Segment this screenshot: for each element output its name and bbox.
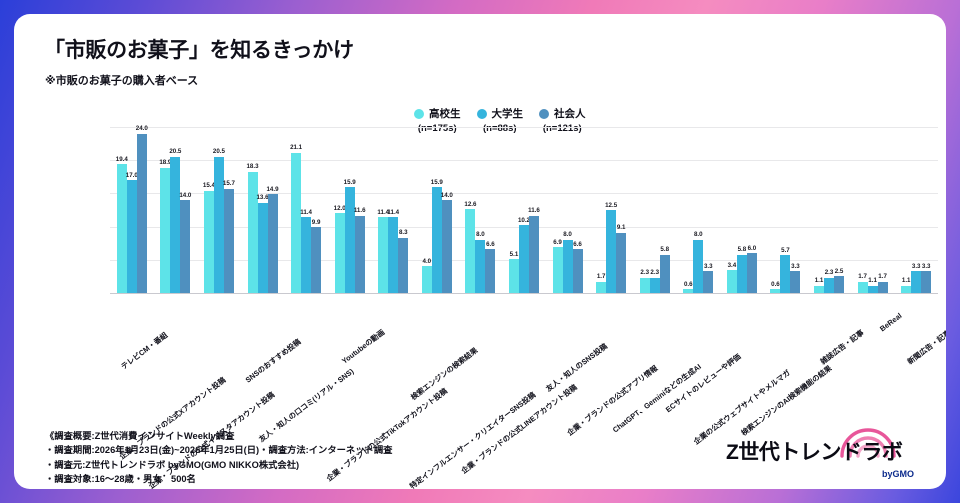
bar[interactable]: [355, 216, 365, 293]
bar-value-label: 6.6: [573, 241, 582, 248]
bar-value-label: 6.9: [553, 239, 562, 246]
bar-group: 1.13.33.3: [894, 127, 938, 293]
bar-value-label: 1.7: [878, 273, 887, 280]
bar-column: 3.3: [790, 127, 800, 293]
bar-value-label: 1.1: [815, 277, 824, 284]
bar-column: 9.9: [311, 127, 321, 293]
bar[interactable]: [878, 282, 888, 293]
bar-group: 1.712.59.1: [589, 127, 633, 293]
bar-column: 5.1: [509, 127, 519, 293]
bar-column: 1.7: [596, 127, 606, 293]
bar-group: 3.45.86.0: [720, 127, 764, 293]
bar-value-label: 3.3: [912, 263, 921, 270]
brand-logo: Z世代トレンドラボ byGMO: [726, 426, 916, 478]
bar-value-label: 14.0: [441, 192, 453, 199]
bar[interactable]: [834, 276, 844, 293]
bar-group: 1.12.32.5: [807, 127, 851, 293]
bar-column: 6.6: [485, 127, 495, 293]
bar-column: 24.0: [137, 127, 147, 293]
bar[interactable]: [345, 187, 355, 293]
bar-value-label: 9.9: [312, 219, 321, 226]
bar-group: 5.110.211.6: [502, 127, 546, 293]
bar-column: 9.1: [616, 127, 626, 293]
bar-column: 8.0: [475, 127, 485, 293]
bar-group: 11.411.48.3: [371, 127, 415, 293]
bar[interactable]: [858, 282, 868, 293]
bar-column: 1.7: [878, 127, 888, 293]
bar-value-label: 6.0: [748, 245, 757, 252]
bar[interactable]: [127, 180, 137, 293]
bar-group: 18.920.514.0: [154, 127, 198, 293]
bar[interactable]: [137, 134, 147, 293]
bar-group: 18.313.614.9: [241, 127, 285, 293]
survey-note-line: ・調査元:Z世代トレンドラボ byGMO(GMO NIKKO株式会社): [45, 458, 392, 472]
bar-value-label: 5.8: [660, 246, 669, 253]
bar-column: 15.9: [432, 127, 442, 293]
bar[interactable]: [703, 271, 713, 293]
bar-value-label: 1.7: [858, 273, 867, 280]
bar[interactable]: [529, 216, 539, 293]
bar[interactable]: [596, 282, 606, 293]
logo-text: Z世代トレンドラボ: [726, 436, 902, 466]
bar[interactable]: [737, 255, 747, 294]
bar-column: 14.0: [442, 127, 452, 293]
legend-label: 社会人: [554, 106, 586, 121]
bar-groups: 19.417.024.018.920.514.015.420.515.718.3…: [110, 127, 938, 293]
bar[interactable]: [519, 225, 529, 293]
bar-column: 17.0: [127, 127, 137, 293]
bar[interactable]: [553, 247, 563, 293]
x-axis-label: 新聞広告・記事: [905, 327, 946, 367]
bar-column: 1.7: [858, 127, 868, 293]
bar-group: 12.68.06.6: [459, 127, 503, 293]
survey-note-line: ・調査期間:2026年1月23日(金)~2026年1月25日(日)・調査方法:イ…: [45, 443, 392, 457]
legend-label: 高校生: [429, 106, 461, 121]
bar[interactable]: [616, 233, 626, 293]
bar[interactable]: [640, 278, 650, 293]
bar-column: 4.0: [422, 127, 432, 293]
bar-column: 8.3: [398, 127, 408, 293]
bar-column: 3.3: [703, 127, 713, 293]
bar-column: 11.4: [301, 127, 311, 293]
bar[interactable]: [248, 172, 258, 294]
bar[interactable]: [311, 227, 321, 293]
bar-value-label: 5.1: [510, 251, 519, 258]
slide-background: 「市販のお菓子」を知るきっかけ ※市販のお菓子の購入者ベース 高校生(n=175…: [0, 0, 960, 503]
bar-column: 0.6: [770, 127, 780, 293]
bar-value-label: 14.0: [179, 192, 191, 199]
bar-column: 5.8: [660, 127, 670, 293]
bar-value-label: 0.6: [771, 281, 780, 288]
bar-column: 8.0: [563, 127, 573, 293]
bar[interactable]: [747, 253, 757, 293]
x-axis-label: BeReal: [878, 311, 903, 333]
x-axis-label: Youtubeの動画: [339, 327, 387, 367]
bar-column: 3.4: [727, 127, 737, 293]
bar-group: 19.417.024.0: [110, 127, 154, 293]
bar-column: 6.6: [573, 127, 583, 293]
bar[interactable]: [780, 255, 790, 293]
bar-column: 5.7: [780, 127, 790, 293]
bar-group: 1.71.11.7: [851, 127, 895, 293]
x-axis-label: SNSのおすすめ投稿: [243, 336, 303, 385]
legend-dot-icon: [477, 109, 487, 119]
bar[interactable]: [727, 270, 737, 293]
survey-note-line: ・調査対象:16〜28歳・男女 500名: [45, 472, 392, 486]
bar[interactable]: [291, 153, 301, 293]
bar-column: 13.6: [258, 127, 268, 293]
bar[interactable]: [160, 168, 170, 293]
bar[interactable]: [485, 249, 495, 293]
bar-column: 2.3: [650, 127, 660, 293]
bar-column: 0.6: [683, 127, 693, 293]
bar-value-label: 14.9: [266, 186, 278, 193]
bar[interactable]: [911, 271, 921, 293]
page-title: 「市販のお菓子」を知るきっかけ: [44, 34, 354, 64]
bar[interactable]: [790, 271, 800, 293]
legend-label: 大学生: [492, 106, 524, 121]
bar-group: 0.68.03.3: [677, 127, 721, 293]
bar-column: 14.9: [268, 127, 278, 293]
bar-value-label: 11.6: [528, 207, 540, 214]
bar-value-label: 8.0: [476, 231, 485, 238]
bar-value-label: 2.5: [835, 268, 844, 275]
bar-value-label: 5.8: [738, 246, 747, 253]
bar-value-label: 8.0: [694, 231, 703, 238]
bar-value-label: 1.1: [902, 277, 911, 284]
logo-bygmo: byGMO: [882, 469, 914, 479]
bar[interactable]: [204, 191, 214, 293]
legend-dot-icon: [539, 109, 549, 119]
bar[interactable]: [170, 157, 180, 293]
bar-column: 11.6: [529, 127, 539, 293]
bar[interactable]: [268, 194, 278, 293]
bar[interactable]: [814, 286, 824, 293]
bar-column: 2.3: [824, 127, 834, 293]
bar[interactable]: [378, 217, 388, 293]
bar-column: 6.9: [553, 127, 563, 293]
bar-column: 3.3: [911, 127, 921, 293]
x-axis-line: [110, 293, 938, 294]
bar-column: 1.1: [868, 127, 878, 293]
content-card: 「市販のお菓子」を知るきっかけ ※市販のお菓子の購入者ベース 高校生(n=175…: [14, 14, 946, 489]
bar[interactable]: [301, 217, 311, 293]
bar-column: 1.1: [814, 127, 824, 293]
bar-value-label: 1.7: [597, 273, 606, 280]
bar-value-label: 2.3: [640, 269, 649, 276]
bar[interactable]: [224, 189, 234, 293]
bar-value-label: 9.1: [617, 224, 626, 231]
bar-group: 12.015.911.6: [328, 127, 372, 293]
bar[interactable]: [921, 271, 931, 293]
bar[interactable]: [442, 200, 452, 293]
bar-column: 2.5: [834, 127, 844, 293]
bar[interactable]: [868, 286, 878, 293]
bar[interactable]: [180, 200, 190, 293]
legend-dot-icon: [414, 109, 424, 119]
bar-value-label: 3.3: [791, 263, 800, 270]
x-axis-label: テレビCM・番組: [118, 330, 169, 372]
bar-column: 20.5: [170, 127, 180, 293]
bar-value-label: 3.3: [922, 263, 931, 270]
bar-value-label: 24.0: [136, 125, 148, 132]
survey-note-line: 《調査概要:Z世代消費インサイトWeekly調査: [45, 429, 392, 443]
bar-value-label: 5.7: [781, 247, 790, 254]
bar[interactable]: [398, 238, 408, 293]
bar-column: 2.3: [640, 127, 650, 293]
bar-column: 11.4: [388, 127, 398, 293]
bar[interactable]: [573, 249, 583, 293]
bar-column: 15.7: [224, 127, 234, 293]
bar-group: 6.98.06.6: [546, 127, 590, 293]
bar-value-label: 8.0: [563, 231, 572, 238]
bar[interactable]: [422, 266, 432, 293]
bar[interactable]: [901, 286, 911, 293]
bar[interactable]: [770, 289, 780, 293]
bar[interactable]: [117, 164, 127, 293]
bar[interactable]: [388, 217, 398, 293]
bar[interactable]: [660, 255, 670, 294]
x-axis-label: 雑誌広告・記事: [818, 327, 866, 367]
bar[interactable]: [509, 259, 519, 293]
bar[interactable]: [606, 210, 616, 293]
bar-value-label: 3.3: [704, 263, 713, 270]
bar-group: 21.111.49.9: [284, 127, 328, 293]
bar-column: 20.5: [214, 127, 224, 293]
bar[interactable]: [432, 187, 442, 293]
chart-plot-area: 19.417.024.018.920.514.015.420.515.718.3…: [110, 127, 938, 293]
x-axis-labels: テレビCM・番組企業・ブランドの公式Xアカウント投稿企業・ブランドの公式インスタ…: [110, 296, 938, 396]
page-subtitle: ※市販のお菓子の購入者ベース: [45, 72, 198, 88]
bar[interactable]: [475, 240, 485, 293]
bar-column: 14.0: [180, 127, 190, 293]
bar-column: 12.5: [606, 127, 616, 293]
bar-column: 11.6: [355, 127, 365, 293]
bar-group: 15.420.515.7: [197, 127, 241, 293]
bar[interactable]: [563, 240, 573, 293]
bar[interactable]: [214, 157, 224, 293]
bar-group: 4.015.914.0: [415, 127, 459, 293]
bar-column: 18.3: [248, 127, 258, 293]
bar-value-label: 8.3: [399, 229, 408, 236]
bar-value-label: 2.3: [825, 269, 834, 276]
bar-value-label: 15.7: [223, 180, 235, 187]
bar-column: 8.0: [693, 127, 703, 293]
bar[interactable]: [258, 203, 268, 293]
bar-column: 3.3: [921, 127, 931, 293]
bar-group: 0.65.73.3: [764, 127, 808, 293]
survey-notes: 《調査概要:Z世代消費インサイトWeekly調査・調査期間:2026年1月23日…: [45, 429, 392, 487]
bar-column: 12.6: [465, 127, 475, 293]
bar[interactable]: [693, 240, 703, 293]
bar-value-label: 0.6: [684, 281, 693, 288]
bar[interactable]: [465, 209, 475, 293]
bar[interactable]: [824, 278, 834, 293]
bar-value-label: 6.6: [486, 241, 495, 248]
bar[interactable]: [650, 278, 660, 293]
bar-column: 6.0: [747, 127, 757, 293]
bar-column: 5.8: [737, 127, 747, 293]
bar[interactable]: [335, 213, 345, 293]
bar-column: 1.1: [901, 127, 911, 293]
bar-value-label: 4.0: [423, 258, 432, 265]
bar-column: 12.0: [335, 127, 345, 293]
bar-value-label: 2.3: [650, 269, 659, 276]
bar-value-label: 11.6: [354, 207, 366, 214]
bar-value-label: 1.1: [868, 277, 877, 284]
bar[interactable]: [683, 289, 693, 293]
bar-column: 19.4: [117, 127, 127, 293]
bar-group: 2.32.35.8: [633, 127, 677, 293]
bar-value-label: 3.4: [728, 262, 737, 269]
